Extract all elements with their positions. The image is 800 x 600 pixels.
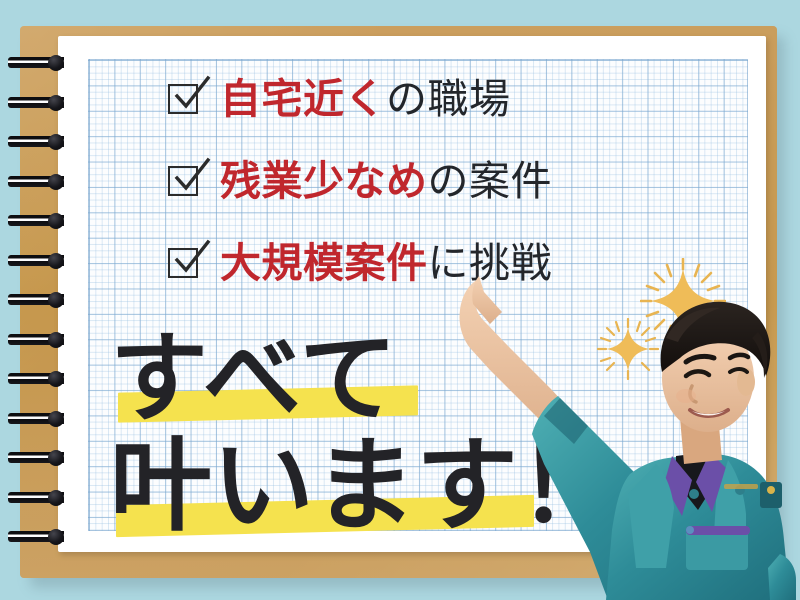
check-mark-icon	[170, 239, 212, 281]
check-mark-icon	[170, 75, 212, 117]
spiral-ring-bead	[48, 213, 64, 229]
checkbox-icon[interactable]	[168, 81, 204, 117]
spiral-binding	[0, 0, 120, 600]
checklist-item-text: 自宅近くの職場	[220, 79, 511, 120]
checklist-item-highlight: 自宅近く	[220, 76, 386, 122]
spiral-ring-bead	[48, 134, 64, 150]
checklist-item-text: 残業少なめの案件	[220, 161, 552, 202]
spiral-ring-bead	[48, 95, 64, 111]
check-mark-icon	[170, 157, 212, 199]
spiral-ring-bead	[48, 411, 64, 427]
checklist-item-highlight: 残業少なめ	[220, 158, 428, 204]
spiral-ring-bead	[48, 371, 64, 387]
poster-canvas: 自宅近くの職場残業少なめの案件大規模案件に挑戦 すべて 叶います！	[0, 0, 800, 600]
spiral-ring-bead	[48, 292, 64, 308]
spiral-ring-bead	[48, 529, 64, 545]
checklist-item: 自宅近くの職場	[168, 58, 688, 140]
spiral-ring-bead	[48, 490, 64, 506]
slogan-line-1-text: すべて	[110, 326, 399, 430]
checklist-item: 残業少なめの案件	[168, 140, 688, 222]
spiral-ring-bead	[48, 55, 64, 71]
checklist-item-plain: の案件	[428, 158, 553, 204]
spiral-ring-bead	[48, 332, 64, 348]
checkbox-icon[interactable]	[168, 245, 204, 281]
spiral-ring-bead	[48, 174, 64, 190]
checkbox-icon[interactable]	[168, 163, 204, 199]
checklist-item-highlight: 大規模案件	[220, 240, 428, 286]
spiral-ring-bead	[48, 450, 64, 466]
pointing-worker-photo	[440, 268, 800, 600]
checklist-item-plain: の職場	[386, 76, 511, 122]
spiral-ring-bead	[48, 253, 64, 269]
